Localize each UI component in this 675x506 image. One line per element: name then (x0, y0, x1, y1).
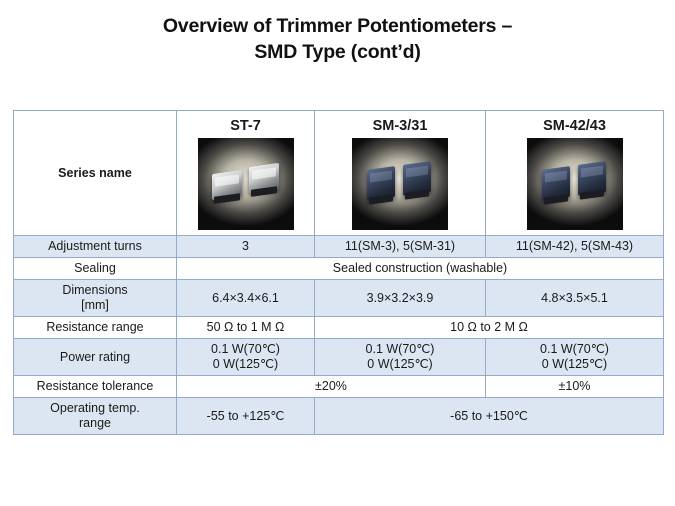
cell-operating-temp-st7: -55 to +125℃ (177, 398, 315, 435)
specifications-table: Series name ST-7 SM-3/31 SM-42/43 (13, 110, 664, 435)
cell-sealing-all: Sealed construction (washable) (177, 258, 664, 280)
cell-adjustment-turns-st7: 3 (177, 236, 315, 258)
cell-resistance-range-st7: 50 Ω to 1 M Ω (177, 317, 315, 339)
series-cell-sm4243: SM-42/43 (486, 111, 664, 236)
row-label-adjustment-turns: Adjustment turns (14, 236, 177, 258)
trimmer-chip (578, 161, 606, 196)
cell-power-rating-sm331: 0.1 W(70℃) 0 W(125℃) (315, 339, 486, 376)
page-title-line-2: SMD Type (cont’d) (0, 39, 675, 65)
cell-resistance-tolerance-sm4243: ±10% (486, 376, 664, 398)
cell-power-rating-sm4243-line-1: 0.1 W(70℃) (490, 342, 659, 357)
sm-42-43-trimmer-photo (527, 138, 623, 230)
row-label-power-rating: Power rating (14, 339, 177, 376)
cell-adjustment-turns-sm331: 11(SM-3), 5(SM-31) (315, 236, 486, 258)
cell-dimensions-st7: 6.4×3.4×6.1 (177, 280, 315, 317)
row-label-operating-temp-range: Operating temp. range (14, 398, 177, 435)
row-label-dimensions: Dimensions [mm] (14, 280, 177, 317)
cell-power-rating-st7-line-2: 0 W(125℃) (181, 357, 310, 372)
page-title: Overview of Trimmer Potentiometers – SMD… (0, 13, 675, 65)
sm-3-31-trimmer-photo (352, 138, 448, 230)
table-row-adjustment-turns: Adjustment turns 3 11(SM-3), 5(SM-31) 11… (14, 236, 664, 258)
trimmer-chip (212, 169, 242, 199)
row-label-resistance-range: Resistance range (14, 317, 177, 339)
row-label-resistance-tolerance: Resistance tolerance (14, 376, 177, 398)
column-header-sm4243: SM-42/43 (490, 119, 659, 134)
series-cell-sm331: SM-3/31 (315, 111, 486, 236)
row-label-operating-temp-line-2: range (18, 416, 172, 431)
cell-power-rating-sm331-line-2: 0 W(125℃) (319, 357, 481, 372)
row-label-dimensions-line-1: Dimensions (18, 283, 172, 298)
column-header-st7: ST-7 (181, 119, 310, 134)
table-row-series-name: Series name ST-7 SM-3/31 SM-42/43 (14, 111, 664, 236)
cell-operating-temp-sm: -65 to +150℃ (315, 398, 664, 435)
page-title-line-1: Overview of Trimmer Potentiometers – (0, 13, 675, 39)
trimmer-chip (367, 166, 395, 201)
row-label-sealing: Sealing (14, 258, 177, 280)
cell-power-rating-sm4243: 0.1 W(70℃) 0 W(125℃) (486, 339, 664, 376)
cell-resistance-tolerance-st7-sm331: ±20% (177, 376, 486, 398)
cell-power-rating-st7-line-1: 0.1 W(70℃) (181, 342, 310, 357)
cell-dimensions-sm331: 3.9×3.2×3.9 (315, 280, 486, 317)
series-cell-st7: ST-7 (177, 111, 315, 236)
column-header-sm331: SM-3/31 (319, 119, 481, 134)
table-row-resistance-range: Resistance range 50 Ω to 1 M Ω 10 Ω to 2… (14, 317, 664, 339)
table-row-sealing: Sealing Sealed construction (washable) (14, 258, 664, 280)
table-row-power-rating: Power rating 0.1 W(70℃) 0 W(125℃) 0.1 W(… (14, 339, 664, 376)
trimmer-chip (249, 162, 279, 192)
trimmer-chip (542, 166, 570, 201)
row-label-dimensions-line-2: [mm] (18, 298, 172, 313)
trimmer-chip (403, 161, 431, 196)
cell-resistance-range-sm: 10 Ω to 2 M Ω (315, 317, 664, 339)
cell-power-rating-st7: 0.1 W(70℃) 0 W(125℃) (177, 339, 315, 376)
row-label-operating-temp-line-1: Operating temp. (18, 401, 172, 416)
cell-dimensions-sm4243: 4.8×3.5×5.1 (486, 280, 664, 317)
cell-adjustment-turns-sm4243: 11(SM-42), 5(SM-43) (486, 236, 664, 258)
table-row-operating-temp-range: Operating temp. range -55 to +125℃ -65 t… (14, 398, 664, 435)
table-row-resistance-tolerance: Resistance tolerance ±20% ±10% (14, 376, 664, 398)
table-row-dimensions: Dimensions [mm] 6.4×3.4×6.1 3.9×3.2×3.9 … (14, 280, 664, 317)
row-label-series-name: Series name (14, 111, 177, 236)
cell-power-rating-sm331-line-1: 0.1 W(70℃) (319, 342, 481, 357)
st-7-trimmer-photo (198, 138, 294, 230)
cell-power-rating-sm4243-line-2: 0 W(125℃) (490, 357, 659, 372)
